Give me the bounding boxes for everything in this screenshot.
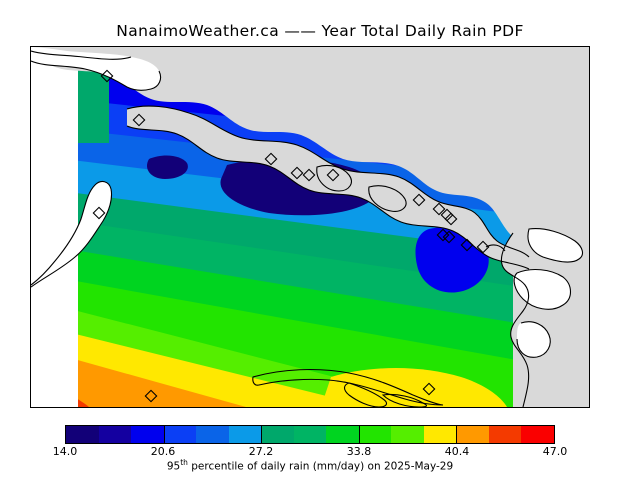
colorbar-band-1 xyxy=(99,426,132,443)
colorbar-band-0 xyxy=(66,426,99,443)
colorbar-band-10 xyxy=(391,426,424,443)
colorbar-band-2 xyxy=(131,426,164,443)
caption-text: percentile of daily rain (mm/day) on 202… xyxy=(188,461,453,473)
colorbar-tick-3 xyxy=(359,426,360,443)
colorbar-band-9 xyxy=(359,426,392,443)
map-canvas xyxy=(31,47,589,407)
colorbar-tick-1 xyxy=(164,426,165,443)
colorbar-tick-label-3: 33.8 xyxy=(347,445,372,458)
colorbar-band-3 xyxy=(164,426,197,443)
colorbar-band-13 xyxy=(489,426,522,443)
caption-percentile-suffix: th xyxy=(180,458,188,467)
colorbar-band-6 xyxy=(261,426,294,443)
colorbar-band-14 xyxy=(521,426,554,443)
colorbar-tick-4 xyxy=(456,426,457,443)
colorbar-band-11 xyxy=(424,426,457,443)
colorbar-tick-label-0: 14.0 xyxy=(53,445,78,458)
colorbar-caption: 95th percentile of daily rain (mm/day) o… xyxy=(30,458,590,473)
colorbar-section: 14.020.627.233.840.447.0 95th percentile… xyxy=(30,425,590,480)
colorbar-tick-label-4: 40.4 xyxy=(445,445,470,458)
colorbar-band-8 xyxy=(326,426,359,443)
colorbar-band-7 xyxy=(294,426,327,443)
colorbar-band-4 xyxy=(196,426,229,443)
colorbar-band-12 xyxy=(456,426,489,443)
caption-percentile-number: 95 xyxy=(167,461,180,473)
colorbar-band-5 xyxy=(229,426,262,443)
colorbar-tick-label-1: 20.6 xyxy=(151,445,176,458)
colorbar-tick-labels: 14.020.627.233.840.447.0 xyxy=(30,445,590,458)
colorbar-tick-label-5: 47.0 xyxy=(543,445,568,458)
colorbar-tick-2 xyxy=(261,426,262,443)
colorbar xyxy=(65,425,555,444)
map-plot-frame xyxy=(30,46,590,408)
colorbar-tick-label-2: 27.2 xyxy=(249,445,274,458)
page-title: NanaimoWeather.ca —— Year Total Daily Ra… xyxy=(0,22,640,40)
